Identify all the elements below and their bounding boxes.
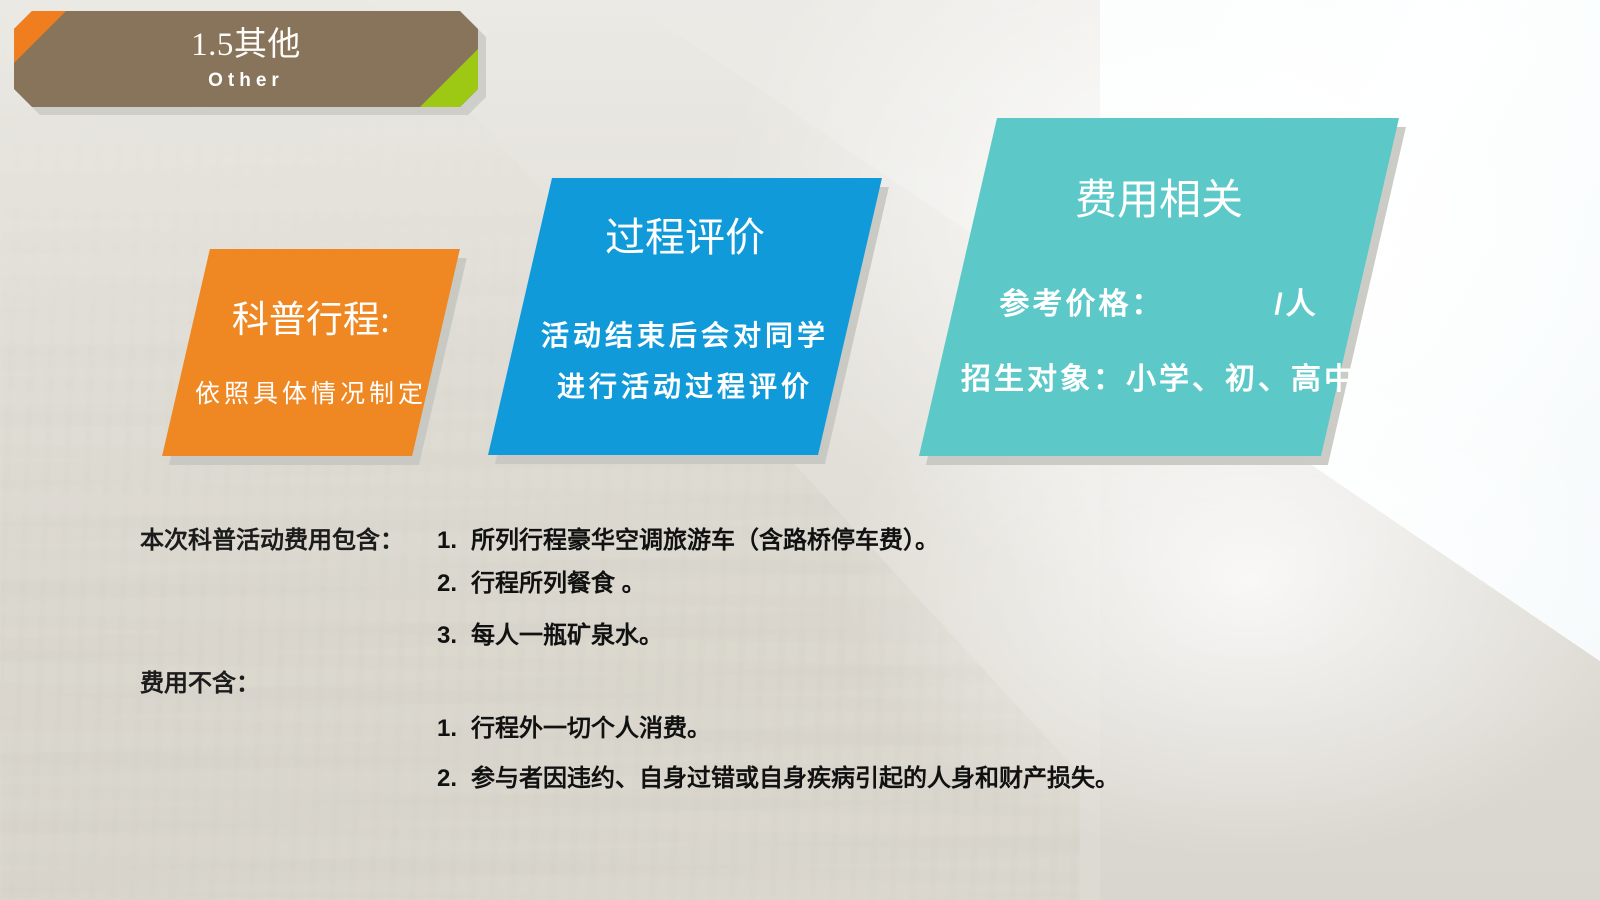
banner-body: 1.5其他 Other xyxy=(14,11,478,107)
card-process-evaluation-title: 过程评价 xyxy=(520,216,850,260)
card-itinerary-content: 科普行程: 依照具体情况制定 xyxy=(186,249,436,456)
included-fees-item-1: 1.所列行程豪华空调旅游车（含路桥停车费）。 xyxy=(437,520,939,555)
excluded-item-1-text: 行程外一切个人消费。 xyxy=(471,715,711,742)
section-title: 1.5其他 xyxy=(14,29,478,62)
excluded-fees-label: 费用不含： xyxy=(140,663,260,698)
price-unit: /人 xyxy=(1274,288,1318,321)
included-fees-item-3: 3.每人一瓶矿泉水。 xyxy=(437,615,663,650)
card-process-evaluation-content: 过程评价 活动结束后会对同学 进行活动过程评价 xyxy=(520,178,850,455)
excluded-fees-item-2: 2.参与者因违约、自身过错或自身疾病引起的人身和财产损失。 xyxy=(437,758,1119,793)
card-fee-related-content: 费用相关 参考价格：/人 招生对象：小学、初、高中 xyxy=(958,118,1360,456)
included-fees-item-2: 2.行程所列餐食 。 xyxy=(437,563,646,598)
price-label: 参考价格： xyxy=(999,288,1164,321)
included-fees-label: 本次科普活动费用包含： xyxy=(140,520,404,555)
included-item-2-number: 2. xyxy=(437,570,471,598)
included-item-1-text: 所列行程豪华空调旅游车（含路桥停车费）。 xyxy=(471,527,939,554)
included-item-2-text: 行程所列餐食 。 xyxy=(471,570,646,597)
section-subtitle: Other xyxy=(14,71,478,90)
card-fee-related-price-line: 参考价格：/人 xyxy=(958,288,1360,321)
card-process-evaluation[interactable]: 过程评价 活动结束后会对同学 进行活动过程评价 xyxy=(520,178,850,455)
card-itinerary-line-1: 依照具体情况制定 xyxy=(186,381,436,409)
slide-canvas: 1.5其他 Other 科普行程: 依照具体情况制定 过程评价 活动结束后会对同… xyxy=(0,0,1600,900)
included-item-1-number: 1. xyxy=(437,527,471,555)
card-fee-related-title: 费用相关 xyxy=(958,178,1360,224)
card-itinerary[interactable]: 科普行程: 依照具体情况制定 xyxy=(186,249,436,456)
card-process-evaluation-line-2: 进行活动过程评价 xyxy=(520,372,850,403)
excluded-fees-item-1: 1.行程外一切个人消费。 xyxy=(437,708,711,743)
card-process-evaluation-line-1: 活动结束后会对同学 xyxy=(520,321,850,352)
card-fee-related[interactable]: 费用相关 参考价格：/人 招生对象：小学、初、高中 xyxy=(958,118,1360,456)
included-item-3-number: 3. xyxy=(437,622,471,650)
card-itinerary-title: 科普行程: xyxy=(186,301,436,342)
excluded-item-1-number: 1. xyxy=(437,715,471,743)
excluded-item-2-text: 参与者因违约、自身过错或自身疾病引起的人身和财产损失。 xyxy=(471,765,1119,792)
excluded-item-2-number: 2. xyxy=(437,765,471,793)
section-header-banner: 1.5其他 Other xyxy=(14,11,478,107)
included-item-3-text: 每人一瓶矿泉水。 xyxy=(471,622,663,649)
card-fee-related-audience-line: 招生对象：小学、初、高中 xyxy=(958,363,1360,396)
